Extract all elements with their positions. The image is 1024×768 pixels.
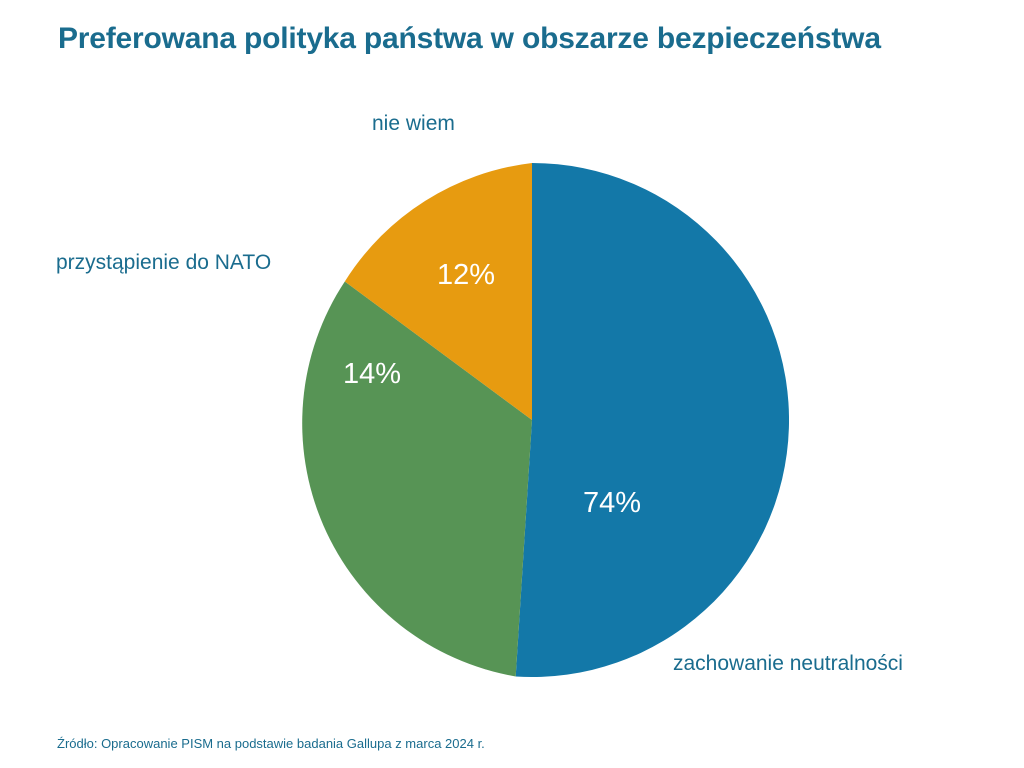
slide-canvas: Preferowana polityka państwa w obszarze …: [0, 0, 1024, 768]
pie-label-neutralnosc: zachowanie neutralności: [673, 652, 903, 676]
pie-chart-svg: [275, 163, 789, 677]
pie-label-nato: przystąpienie do NATO: [56, 251, 271, 275]
pie-slice-neutralnosc[interactable]: [516, 163, 789, 677]
pie-chart: 74% 14% 12% nie wiem przystąpienie do NA…: [0, 0, 1024, 768]
pie-value-neutralnosc: 74%: [583, 487, 641, 520]
source-note: Źródło: Opracowanie PISM na podstawie ba…: [57, 736, 485, 751]
pie-label-nie-wiem: nie wiem: [372, 112, 455, 136]
pie-value-nie-wiem: 12%: [437, 259, 495, 292]
pie-value-nato: 14%: [343, 358, 401, 391]
